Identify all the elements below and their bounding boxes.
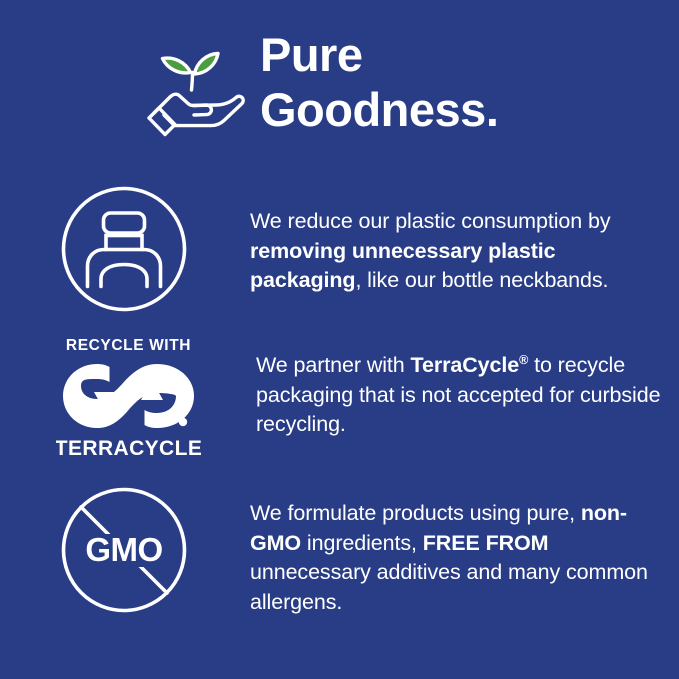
icon-cell xyxy=(0,185,195,313)
gmo-label: GMO xyxy=(85,531,162,568)
infinity-loop-shape xyxy=(63,364,194,428)
terracycle-brand: TerraCycle xyxy=(411,353,520,377)
claim-row-terracycle: RECYCLE WITH TERRACYCLE xyxy=(0,336,679,464)
page-title-line-2: Goodness. xyxy=(260,83,498,136)
claim-row-non-gmo: GMO We formulate products using pure, no… xyxy=(0,486,679,618)
bottle-in-circle-icon xyxy=(60,185,188,313)
header: PureGoodness. xyxy=(0,28,679,140)
claim-text-plastic-reduction: We reduce our plastic consumption by rem… xyxy=(195,185,679,296)
claim-text-part: We reduce our plastic consumption by xyxy=(250,209,611,233)
claim-text-part: We formulate products using pure, xyxy=(250,501,581,525)
claim-text-part: , like our bottle neckbands. xyxy=(355,268,608,292)
claim-text-part: ingredients, xyxy=(301,531,423,555)
page-title-line-1: Pure xyxy=(260,28,363,81)
claim-text-part-bold: TerraCycle® xyxy=(411,353,529,377)
icon-cell: RECYCLE WITH TERRACYCLE xyxy=(0,336,201,461)
hand-holding-sprout-icon xyxy=(146,36,250,140)
terracycle-bottom-text: TERRACYCLE xyxy=(56,437,201,460)
terracycle-logo-icon: RECYCLE WITH TERRACYCLE xyxy=(56,336,201,461)
pure-goodness-infographic: PureGoodness. xyxy=(0,0,679,679)
claim-text-non-gmo: We formulate products using pure, non-GM… xyxy=(195,486,679,618)
no-gmo-icon: GMO xyxy=(60,486,188,614)
claim-text-part: We partner with xyxy=(256,353,411,377)
terracycle-top-text: RECYCLE WITH xyxy=(66,337,191,354)
claims-list: We reduce our plastic consumption by rem… xyxy=(0,185,679,618)
claim-text-part: unnecessary additives and many common al… xyxy=(250,560,648,614)
registered-mark-icon xyxy=(179,418,187,426)
claim-text-part-bold: FREE FROM xyxy=(423,531,549,555)
claim-text-terracycle: We partner with TerraCycle® to recycle p… xyxy=(201,336,679,440)
page-title: PureGoodness. xyxy=(260,28,498,138)
claim-row-plastic-reduction: We reduce our plastic consumption by rem… xyxy=(0,185,679,313)
registered-trademark: ® xyxy=(519,353,528,367)
icon-cell: GMO xyxy=(0,486,195,614)
